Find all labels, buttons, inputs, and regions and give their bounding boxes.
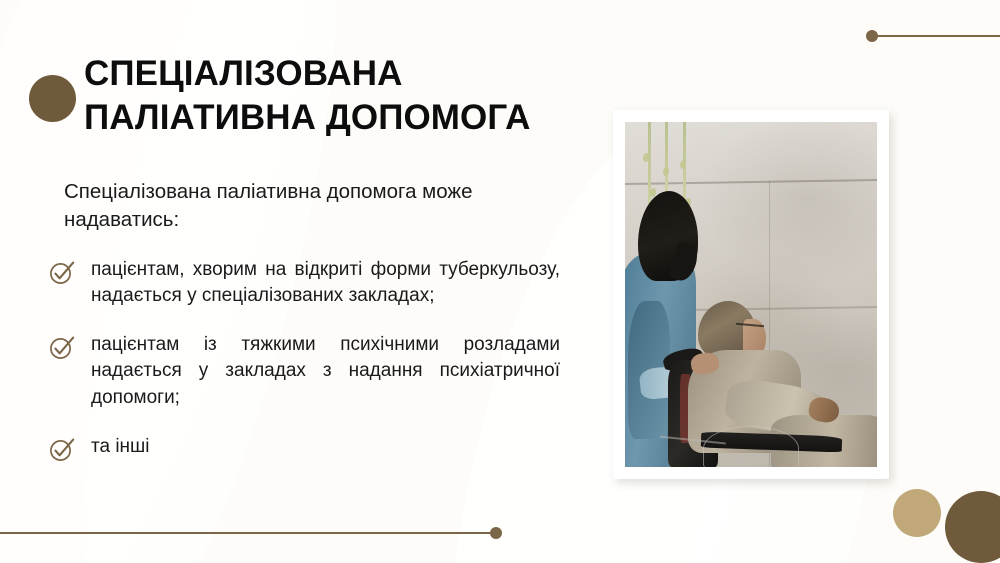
photo-image <box>625 122 877 467</box>
list-item-label: та інші <box>91 434 560 461</box>
vine-leaf <box>643 153 649 162</box>
body-content: Спеціалізована паліативна допомога може … <box>48 178 560 460</box>
decorative-circle-bottom-right-small <box>893 489 941 537</box>
bullet-list: пацієнтам, хворим на відкриті форми тубе… <box>48 257 560 461</box>
decorative-line-bottom-left <box>0 532 498 534</box>
check-circle-icon <box>48 258 78 286</box>
list-item-label: пацієнтам, хворим на відкриті форми тубе… <box>91 257 560 310</box>
decorative-dot-bottom-left <box>490 527 502 539</box>
list-item-label: пацієнтам із тяжкими психічними розладам… <box>91 332 560 412</box>
list-item: пацієнтам із тяжкими психічними розладам… <box>48 332 560 412</box>
decorative-dot-top-right <box>866 30 878 42</box>
decorative-circle-bottom-right-large <box>945 491 1000 563</box>
check-circle-icon <box>48 435 78 463</box>
photo-frame <box>613 110 889 479</box>
wheelchair-frame <box>703 426 799 467</box>
decorative-circle-title <box>29 75 76 122</box>
title-block: СПЕЦІАЛІЗОВАНА ПАЛІАТИВНА ДОПОМОГА <box>84 52 604 141</box>
list-item: пацієнтам, хворим на відкриті форми тубе… <box>48 257 560 310</box>
list-item: та інші <box>48 434 560 461</box>
vine-leaf <box>663 167 669 176</box>
check-circle-icon <box>48 333 78 361</box>
presentation-slide: СПЕЦІАЛІЗОВАНА ПАЛІАТИВНА ДОПОМОГА Спеці… <box>0 0 1000 563</box>
page-title: СПЕЦІАЛІЗОВАНА ПАЛІАТИВНА ДОПОМОГА <box>84 52 604 141</box>
intro-paragraph: Спеціалізована паліативна допомога може … <box>64 178 556 235</box>
decorative-line-top-right <box>877 35 1000 37</box>
